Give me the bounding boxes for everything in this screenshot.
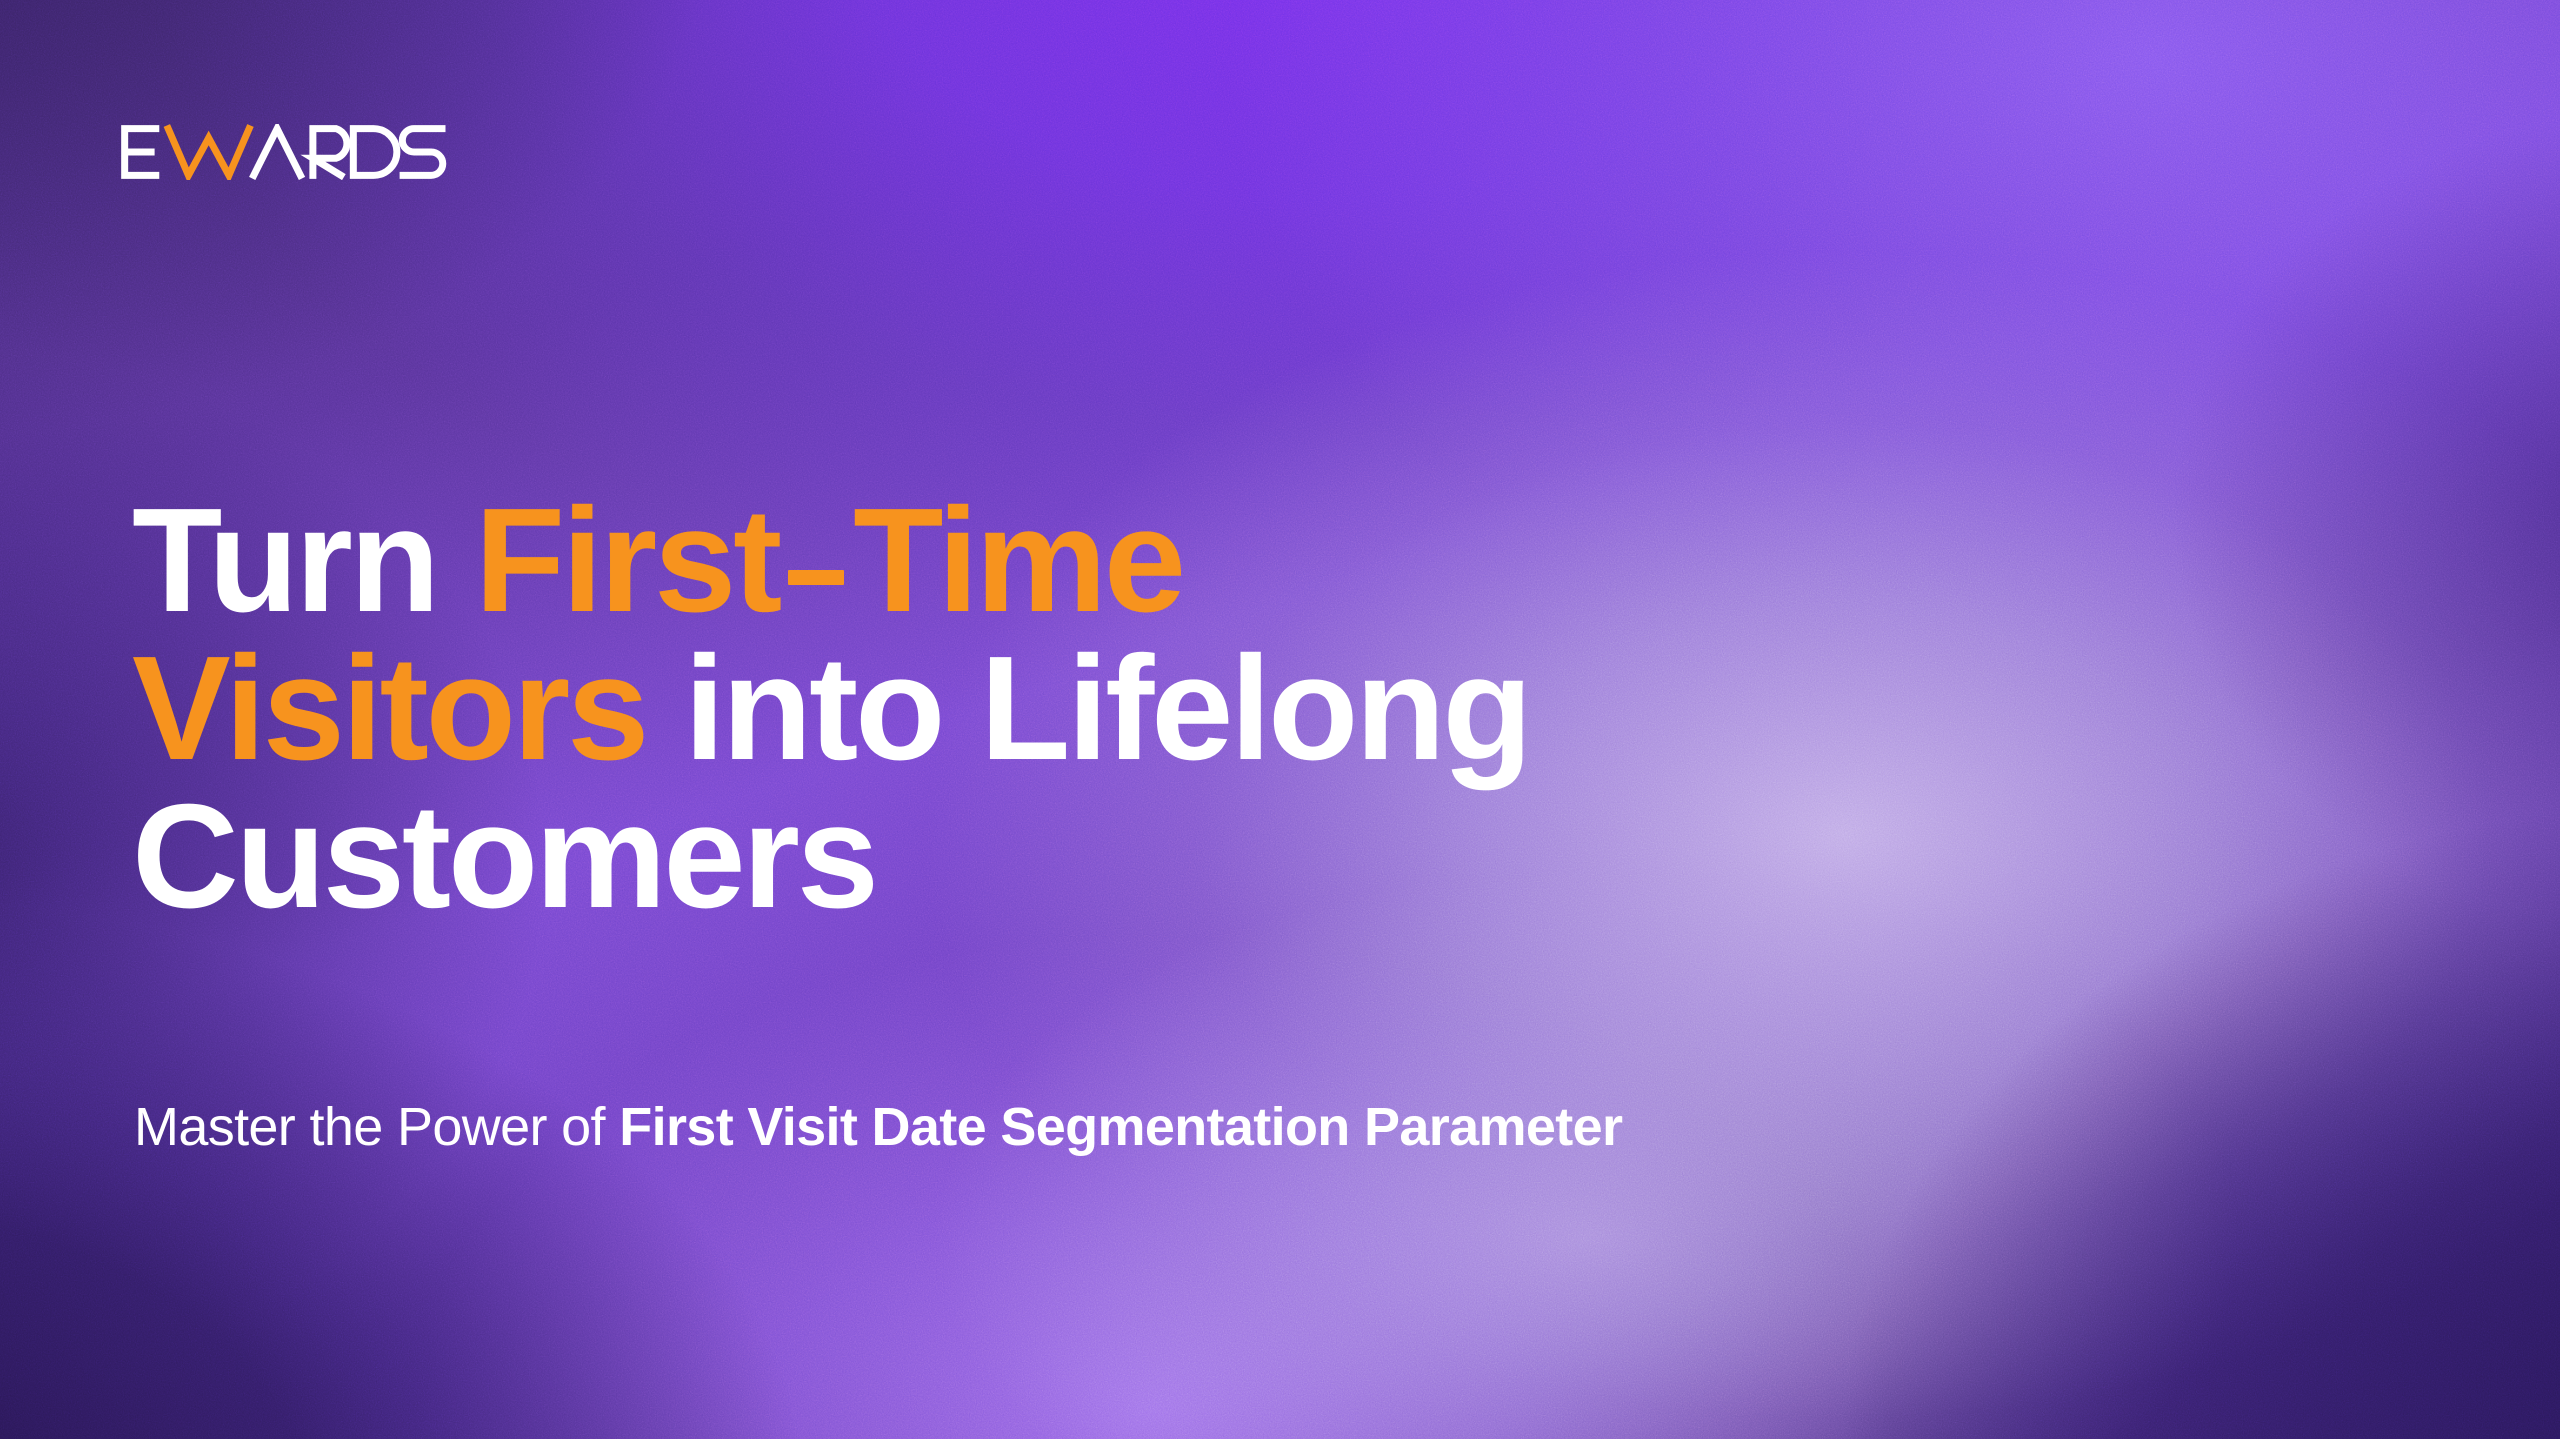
logo-letter-W bbox=[168, 129, 249, 176]
headline-text-visitors: Visitors bbox=[132, 626, 646, 791]
headline-line-1: Turn FirstTime bbox=[132, 487, 2132, 635]
headline-text-into-lifelong: into Lifelong bbox=[646, 626, 1529, 791]
headline-text-turn: Turn bbox=[132, 478, 475, 643]
logo-letter-E bbox=[125, 129, 156, 176]
page-subtitle: Master the Power of First Visit Date Seg… bbox=[134, 1096, 1622, 1158]
logo-letter-D bbox=[353, 129, 397, 176]
ewards-logo[interactable] bbox=[120, 122, 447, 180]
headline-text-time: Time bbox=[853, 478, 1183, 643]
subtitle-text-regular: Master the Power of bbox=[134, 1097, 619, 1157]
headline-text-customers: Customers bbox=[132, 774, 876, 939]
logo-letter-R bbox=[313, 129, 347, 176]
logo-letter-S bbox=[402, 129, 442, 176]
logo-letter-A bbox=[254, 129, 301, 176]
banner-content: Turn FirstTime Visitors into Lifelong Cu… bbox=[0, 0, 2560, 1439]
headline-text-first: First bbox=[475, 478, 779, 643]
subtitle-text-bold: First Visit Date Segmentation Parameter bbox=[619, 1097, 1622, 1157]
headline-line-3: Customers bbox=[132, 783, 2132, 931]
headline-line-2: Visitors into Lifelong bbox=[132, 635, 2132, 783]
page-title: Turn FirstTime Visitors into Lifelong Cu… bbox=[132, 487, 2132, 931]
promo-banner: Turn FirstTime Visitors into Lifelong Cu… bbox=[0, 0, 2560, 1439]
